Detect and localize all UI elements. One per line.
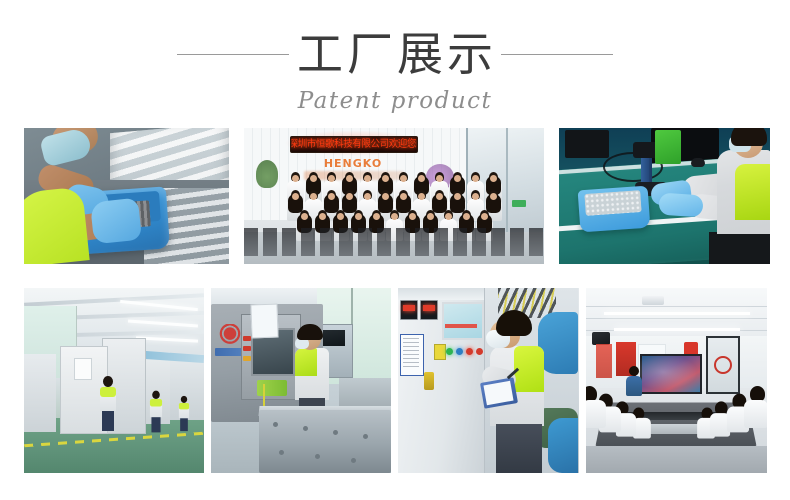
- technician-legs: [496, 424, 542, 473]
- attendee-right: [744, 386, 767, 428]
- tray-bolt: [315, 454, 320, 459]
- tray-bolt: [351, 458, 356, 463]
- attendee-left: [586, 386, 606, 428]
- wall-logo: HENGKO: [314, 156, 392, 170]
- hmi-status-bar: [445, 324, 477, 328]
- stainless-work-tray: [259, 410, 391, 473]
- ceiling-projector: [642, 296, 664, 305]
- led-banner-text: 深圳市恒歌科技有限公司欢迎您!: [290, 139, 418, 150]
- factory-showcase-page: 工厂展示 Patent product: [0, 0, 790, 500]
- meeting-room-floor: [586, 446, 767, 473]
- process-machine: [24, 354, 56, 432]
- machine-button: [243, 346, 251, 351]
- photo-process-control: [398, 288, 579, 473]
- indicator-lamp-green: [446, 348, 453, 355]
- tray-bolt: [303, 426, 308, 431]
- group-lower-bodies: [244, 228, 544, 256]
- machine-control-panel: [74, 358, 92, 380]
- indicator-lamp-red: [476, 348, 483, 355]
- computer-mouse: [691, 158, 705, 167]
- indicator-lamp-blue: [456, 348, 463, 355]
- posted-work-instruction: [250, 304, 278, 339]
- operator-hair: [297, 324, 323, 340]
- workshop-operator: [179, 396, 189, 431]
- ceiling-light: [614, 328, 740, 331]
- page-title: 工厂展示: [297, 28, 497, 80]
- ceiling-grid-line: [586, 306, 767, 307]
- operator-chair: [709, 232, 770, 264]
- door-emblem: [714, 356, 732, 374]
- gallery-top-row: 深圳市恒歌科技有限公司欢迎您! HENGKO: [24, 128, 766, 264]
- emergency-stop-switch: [424, 372, 434, 390]
- led-welcome-banner: 深圳市恒歌科技有限公司欢迎您!: [290, 136, 418, 153]
- microscope-arm: [641, 158, 649, 184]
- wall-logo-text: HENGKO: [324, 157, 382, 170]
- technician-hair: [496, 310, 532, 336]
- digital-readout: [400, 300, 418, 320]
- machine-brand-mark: [217, 324, 243, 348]
- tray-bolt: [279, 450, 284, 455]
- ceiling-grid-line: [586, 318, 767, 319]
- photo-conference-meeting: [586, 288, 767, 473]
- inspector-glove-right: [658, 192, 703, 217]
- sintered-metal-parts: [584, 190, 641, 216]
- photo-quality-inspection: [559, 128, 770, 264]
- page-header: 工厂展示 Patent product: [0, 0, 790, 126]
- photo-cnc-machining: [211, 288, 391, 473]
- tray-bolt: [333, 430, 338, 435]
- monitor-secondary: [565, 130, 609, 158]
- tray-bolt: [273, 422, 278, 427]
- gallery-bottom-row: [24, 288, 766, 473]
- photo-production-workshop: [24, 288, 204, 473]
- indicator-lamp-red: [466, 348, 473, 355]
- microscope-camera-module: [655, 130, 681, 164]
- face-mask: [39, 128, 93, 167]
- operator-vest: [295, 348, 317, 376]
- workshop-operator: [100, 376, 116, 431]
- cabinet-top-edge: [398, 288, 484, 300]
- hmi-touchscreen: [442, 302, 484, 340]
- divider-right: [501, 54, 613, 55]
- caution-label: [434, 344, 446, 360]
- divider-left: [177, 54, 289, 55]
- meeting-presenter: [626, 366, 642, 396]
- inspector-hair: [731, 128, 767, 146]
- tray-bolt: [363, 434, 368, 439]
- photo-packaging-station: [24, 128, 229, 264]
- hi-vis-vest: [24, 186, 90, 264]
- title-row: 工厂展示: [0, 28, 790, 80]
- wall-calligraphy: [596, 344, 612, 378]
- digital-readout: [420, 300, 438, 320]
- machine-button: [243, 356, 251, 361]
- photo-company-group: 深圳市恒歌科技有限公司欢迎您! HENGKO: [244, 128, 544, 264]
- machine-button: [243, 336, 251, 341]
- blue-glove-right: [90, 198, 142, 245]
- ceiling-light: [604, 312, 750, 315]
- document-text-lines: [403, 338, 419, 370]
- workshop-operator: [150, 391, 162, 433]
- inspector-vest-sleeve: [735, 164, 770, 220]
- display-glare: [640, 354, 698, 390]
- page-subtitle: Patent product: [0, 88, 790, 114]
